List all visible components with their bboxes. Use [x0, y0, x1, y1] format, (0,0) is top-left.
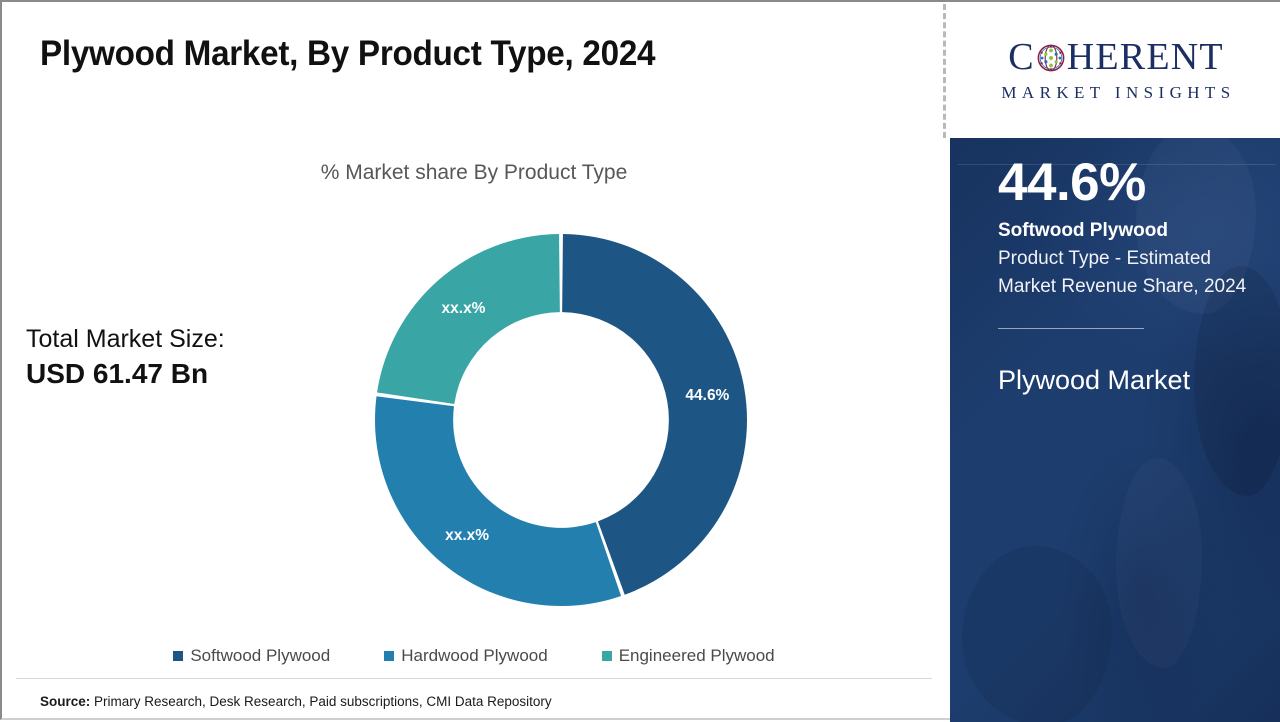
legend-item-engineered-plywood[interactable]: Engineered Plywood — [602, 646, 775, 666]
chart-subtitle: % Market share By Product Type — [2, 161, 946, 185]
donut-slices — [375, 234, 747, 606]
donut-slice-label: xx.x% — [442, 300, 486, 317]
source-text: Primary Research, Desk Research, Paid su… — [90, 694, 551, 709]
panel-separator — [943, 4, 946, 138]
total-market-size-label: Total Market Size: — [26, 324, 225, 355]
logo-subtitle: MARKET INSIGHTS — [996, 83, 1235, 103]
stat-panel: 44.6% Softwood Plywood Product Type - Es… — [950, 138, 1280, 722]
donut-slice[interactable] — [375, 396, 621, 606]
total-market-size-block: Total Market Size: USD 61.47 Bn — [26, 324, 225, 391]
logo-letter-c: C — [1008, 38, 1035, 76]
legend-swatch-icon — [384, 651, 394, 661]
legend-swatch-icon — [173, 651, 183, 661]
donut-slice-label: 44.6% — [685, 387, 729, 404]
legend-swatch-icon — [602, 651, 612, 661]
source-divider — [16, 678, 932, 679]
stat-name: Softwood Plywood — [998, 219, 1256, 243]
source-line: Source: Primary Research, Desk Research,… — [40, 694, 552, 709]
chart-legend: Softwood Plywood Hardwood Plywood Engine… — [2, 646, 946, 666]
brand-logo: C — [950, 2, 1280, 138]
source-label: Source: — [40, 694, 90, 709]
report-name: Plywood Market — [998, 359, 1218, 403]
stat-value: 44.6% — [998, 156, 1256, 209]
stat-description: Product Type - Estimated Market Revenue … — [998, 245, 1250, 302]
chart-area: Plywood Market, By Product Type, 2024 % … — [2, 2, 946, 722]
legend-label: Hardwood Plywood — [401, 646, 547, 666]
legend-label: Engineered Plywood — [619, 646, 775, 666]
background-shape — [1116, 458, 1202, 668]
total-market-size-value: USD 61.47 Bn — [26, 357, 225, 391]
right-panel: C — [950, 2, 1280, 722]
stat-panel-content: 44.6% Softwood Plywood Product Type - Es… — [950, 138, 1280, 402]
globe-icon — [1036, 43, 1066, 73]
logo-wordmark: C — [1008, 37, 1224, 77]
legend-item-softwood-plywood[interactable]: Softwood Plywood — [173, 646, 330, 666]
infographic-page: Plywood Market, By Product Type, 2024 % … — [0, 0, 1280, 720]
logo-word-rest: HERENT — [1067, 38, 1224, 76]
legend-item-hardwood-plywood[interactable]: Hardwood Plywood — [384, 646, 547, 666]
donut-chart-svg: 44.6%xx.x%xx.x% — [373, 232, 749, 608]
background-shape — [962, 546, 1112, 722]
legend-label: Softwood Plywood — [190, 646, 330, 666]
stat-divider — [998, 328, 1144, 329]
donut-slice[interactable] — [377, 234, 560, 404]
page-title: Plywood Market, By Product Type, 2024 — [40, 34, 655, 74]
donut-chart: 44.6%xx.x%xx.x% — [373, 232, 749, 608]
donut-slice-label: xx.x% — [445, 527, 489, 544]
